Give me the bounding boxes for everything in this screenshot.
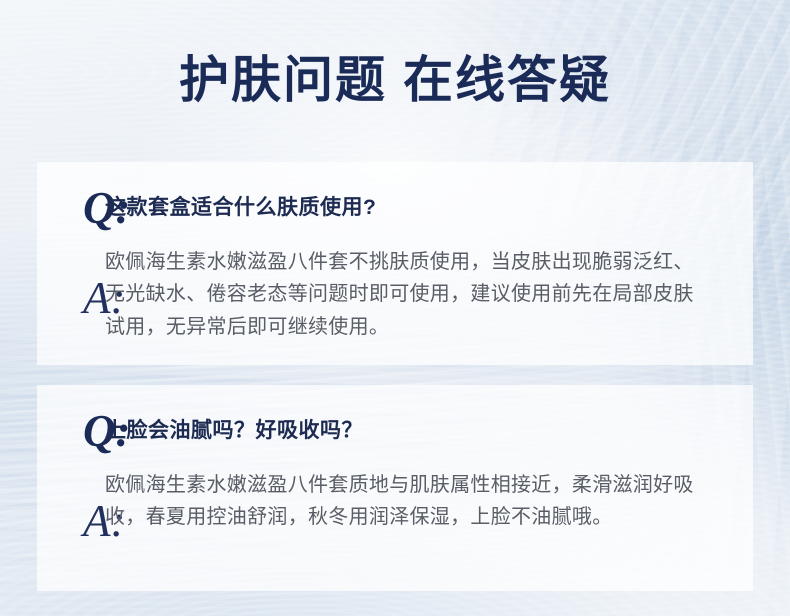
- faq-page: 护肤问题 在线答疑 Q: 这款套盒适合什么肤质使用? A: 欧佩海生素水嫩滋盈八…: [0, 0, 790, 616]
- faq-card: Q: 这款套盒适合什么肤质使用? A: 欧佩海生素水嫩滋盈八件套不挑肤质使用，当…: [37, 162, 753, 365]
- faq-card: Q: 上脸会油腻吗？好吸收吗？ A: 欧佩海生素水嫩滋盈八件套质地与肌肤属性相接…: [37, 385, 753, 591]
- answer-marker: A:: [37, 467, 105, 544]
- answer-text: 欧佩海生素水嫩滋盈八件套不挑肤质使用，当皮肤出现脆弱泛红、无光缺水、倦容老态等问…: [105, 244, 713, 343]
- answer-text: 欧佩海生素水嫩滋盈八件套质地与肌肤属性相接近，柔滑滋润好吸收，春夏用控油舒润，秋…: [105, 467, 713, 534]
- question-text: 上脸会油腻吗？好吸收吗？: [105, 409, 363, 446]
- question-row: Q: 上脸会油腻吗？好吸收吗？: [37, 409, 363, 454]
- question-marker: Q:: [37, 186, 105, 231]
- question-row: Q: 这款套盒适合什么肤质使用?: [37, 186, 376, 231]
- answer-row: A: 欧佩海生素水嫩滋盈八件套不挑肤质使用，当皮肤出现脆弱泛红、无光缺水、倦容老…: [37, 244, 713, 343]
- question-text: 这款套盒适合什么肤质使用?: [105, 186, 376, 223]
- question-marker: Q:: [37, 409, 105, 454]
- answer-row: A: 欧佩海生素水嫩滋盈八件套质地与肌肤属性相接近，柔滑滋润好吸收，春夏用控油舒…: [37, 467, 713, 544]
- answer-marker: A:: [37, 244, 105, 321]
- page-title: 护肤问题 在线答疑: [0, 52, 790, 108]
